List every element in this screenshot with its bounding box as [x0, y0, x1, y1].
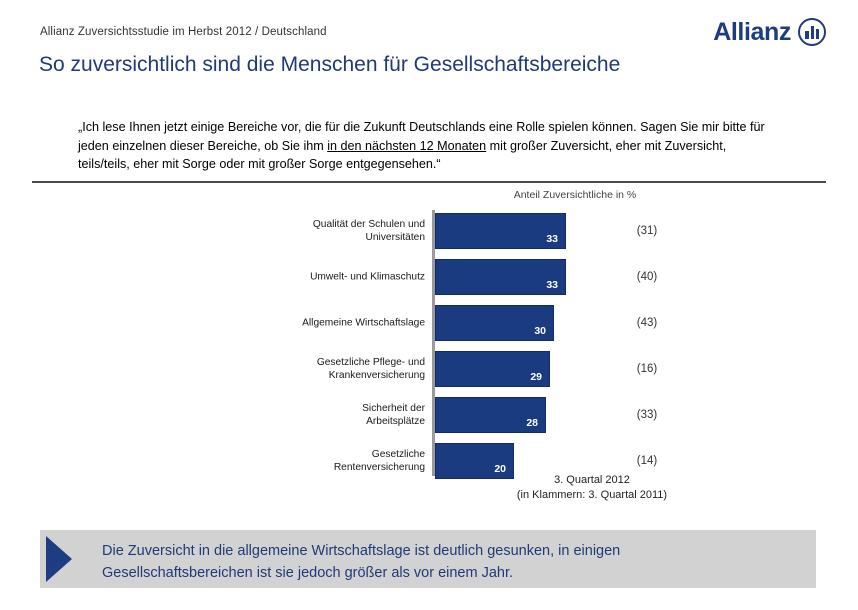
footnote-line-2: (in Klammern: 3. Quartal 2011) [517, 489, 667, 501]
bar-label: Umwelt- und Klimaschutz [255, 271, 425, 284]
takeaway-line-2: Gesellschaftsbereichen ist sie jedoch gr… [102, 565, 513, 581]
takeaway-banner: Die Zuversicht in die allgemeine Wirtsch… [40, 530, 816, 588]
page-header: Allianz Zuversichtsstudie im Herbst 2012… [0, 0, 858, 96]
bar-value: 28 [526, 417, 538, 429]
bar-value: 33 [546, 279, 558, 291]
bar-chart: Qualität der Schulen undUniversitäten 33… [0, 208, 858, 476]
chart-row: Allgemeine Wirtschaftslage 30 (43) [0, 302, 858, 344]
chart-caption: Anteil Zuversichtliche in % [430, 189, 720, 201]
chart-row: Gesetzliche Pflege- undKrankenversicheru… [0, 348, 858, 390]
bar-label: Gesetzliche Pflege- undKrankenversicheru… [255, 356, 425, 382]
bar-qualitaet-der-schulen-und-universitaeten: 33 [435, 213, 566, 249]
chart-row: Sicherheit derArbeitsplätze 28 (33) [0, 394, 858, 436]
bar-label: Allgemeine Wirtschaftslage [255, 317, 425, 330]
previous-year-value: (43) [612, 317, 682, 329]
chart-row: Qualität der Schulen undUniversitäten 33… [0, 210, 858, 252]
question-underlined-phrase: in den nächsten 12 Monaten [327, 139, 486, 153]
bar-value: 33 [546, 233, 558, 245]
previous-year-value: (31) [612, 225, 682, 237]
bar-value: 29 [530, 371, 542, 383]
chart-row: Umwelt- und Klimaschutz 33 (40) [0, 256, 858, 298]
survey-question: „Ich lese Ihnen jetzt einige Bereiche vo… [78, 118, 778, 174]
bar-label: Qualität der Schulen undUniversitäten [255, 218, 425, 244]
bar-allgemeine-wirtschaftslage: 30 [435, 305, 554, 341]
bar-label: Sicherheit derArbeitsplätze [255, 402, 425, 428]
previous-year-value: (40) [612, 271, 682, 283]
section-divider [32, 181, 826, 183]
chart-footnote: 3. Quartal 2012 (in Klammern: 3. Quartal… [462, 473, 722, 503]
allianz-wordmark: Allianz [713, 20, 791, 45]
bar-umwelt-und-klimaschutz: 33 [435, 259, 566, 295]
arrow-right-icon [46, 536, 72, 582]
footnote-line-1: 3. Quartal 2012 [554, 474, 630, 486]
study-kicker: Allianz Zuversichtsstudie im Herbst 2012… [40, 26, 327, 38]
bar-sicherheit-der-arbeitsplaetze: 28 [435, 397, 546, 433]
bar-value: 30 [534, 325, 546, 337]
bar-gesetzliche-pflege-und-krankenversicherung: 29 [435, 351, 550, 387]
previous-year-value: (16) [612, 363, 682, 375]
takeaway-line-1: Die Zuversicht in die allgemeine Wirtsch… [102, 543, 620, 559]
allianz-logo: Allianz [713, 18, 826, 46]
previous-year-value: (14) [612, 455, 682, 467]
page-title: So zuversichtlich sind die Menschen für … [39, 53, 620, 77]
chart-row: GesetzlicheRentenversicherung 20 (14) [0, 440, 858, 482]
takeaway-text: Die Zuversicht in die allgemeine Wirtsch… [102, 540, 802, 584]
bar-label: GesetzlicheRentenversicherung [255, 448, 425, 474]
previous-year-value: (33) [612, 409, 682, 421]
allianz-circle-bars-icon [798, 18, 826, 46]
